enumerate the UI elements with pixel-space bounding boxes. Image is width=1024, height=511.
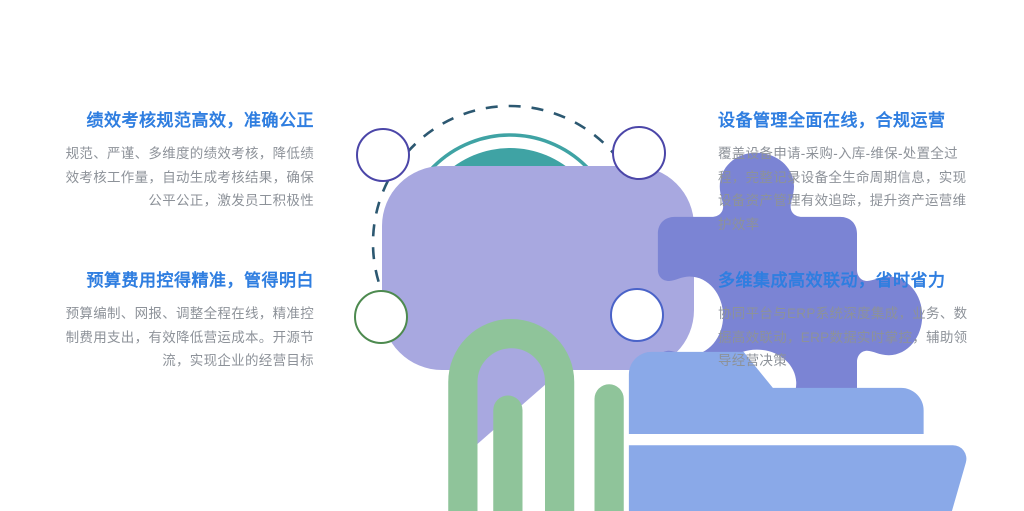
speech-bubble-icon-badge[interactable] — [356, 128, 410, 182]
feature-block-integration: 多维集成高效联动，省时省力 协同平台与ERP系统深度集成，业务、数据高效联动，E… — [718, 270, 980, 373]
feature-block-budget: 预算费用控得精准，管得明白 预算编制、网报、调整全程在线，精准控制费用支出，有效… — [52, 270, 314, 373]
feature-heading-budget: 预算费用控得精准，管得明白 — [52, 270, 314, 292]
folder-icon-badge[interactable] — [610, 288, 664, 342]
feature-body-budget: 预算编制、网报、调整全程在线，精准控制费用支出，有效降低营运成本。开源节流，实现… — [52, 302, 314, 373]
feature-heading-integration: 多维集成高效联动，省时省力 — [718, 270, 980, 292]
feature-body-integration: 协同平台与ERP系统深度集成，业务、数据高效联动，ERP数据实时掌控，辅助领导经… — [718, 302, 980, 373]
infographic-canvas: 核心价值 — [0, 0, 1024, 511]
feature-block-device: 设备管理全面在线，合规运营 覆盖设备申请-采购-入库-维保-处置全过程，完整记录… — [718, 110, 980, 237]
feature-heading-device: 设备管理全面在线，合规运营 — [718, 110, 980, 132]
feature-block-performance: 绩效考核规范高效，准确公正 规范、严谨、多维度的绩效考核，降低绩效考核工作量，自… — [52, 110, 314, 213]
core-value-diagram: 核心价值 — [330, 60, 690, 420]
feature-body-device: 覆盖设备申请-采购-入库-维保-处置全过程，完整记录设备全生命周期信息，实现设备… — [718, 142, 980, 237]
feature-heading-performance: 绩效考核规范高效，准确公正 — [52, 110, 314, 132]
paperclip-icon-badge[interactable] — [354, 290, 408, 344]
puzzle-icon-badge[interactable] — [612, 126, 666, 180]
feature-body-performance: 规范、严谨、多维度的绩效考核，降低绩效考核工作量，自动生成考核结果，确保公平公正… — [52, 142, 314, 213]
